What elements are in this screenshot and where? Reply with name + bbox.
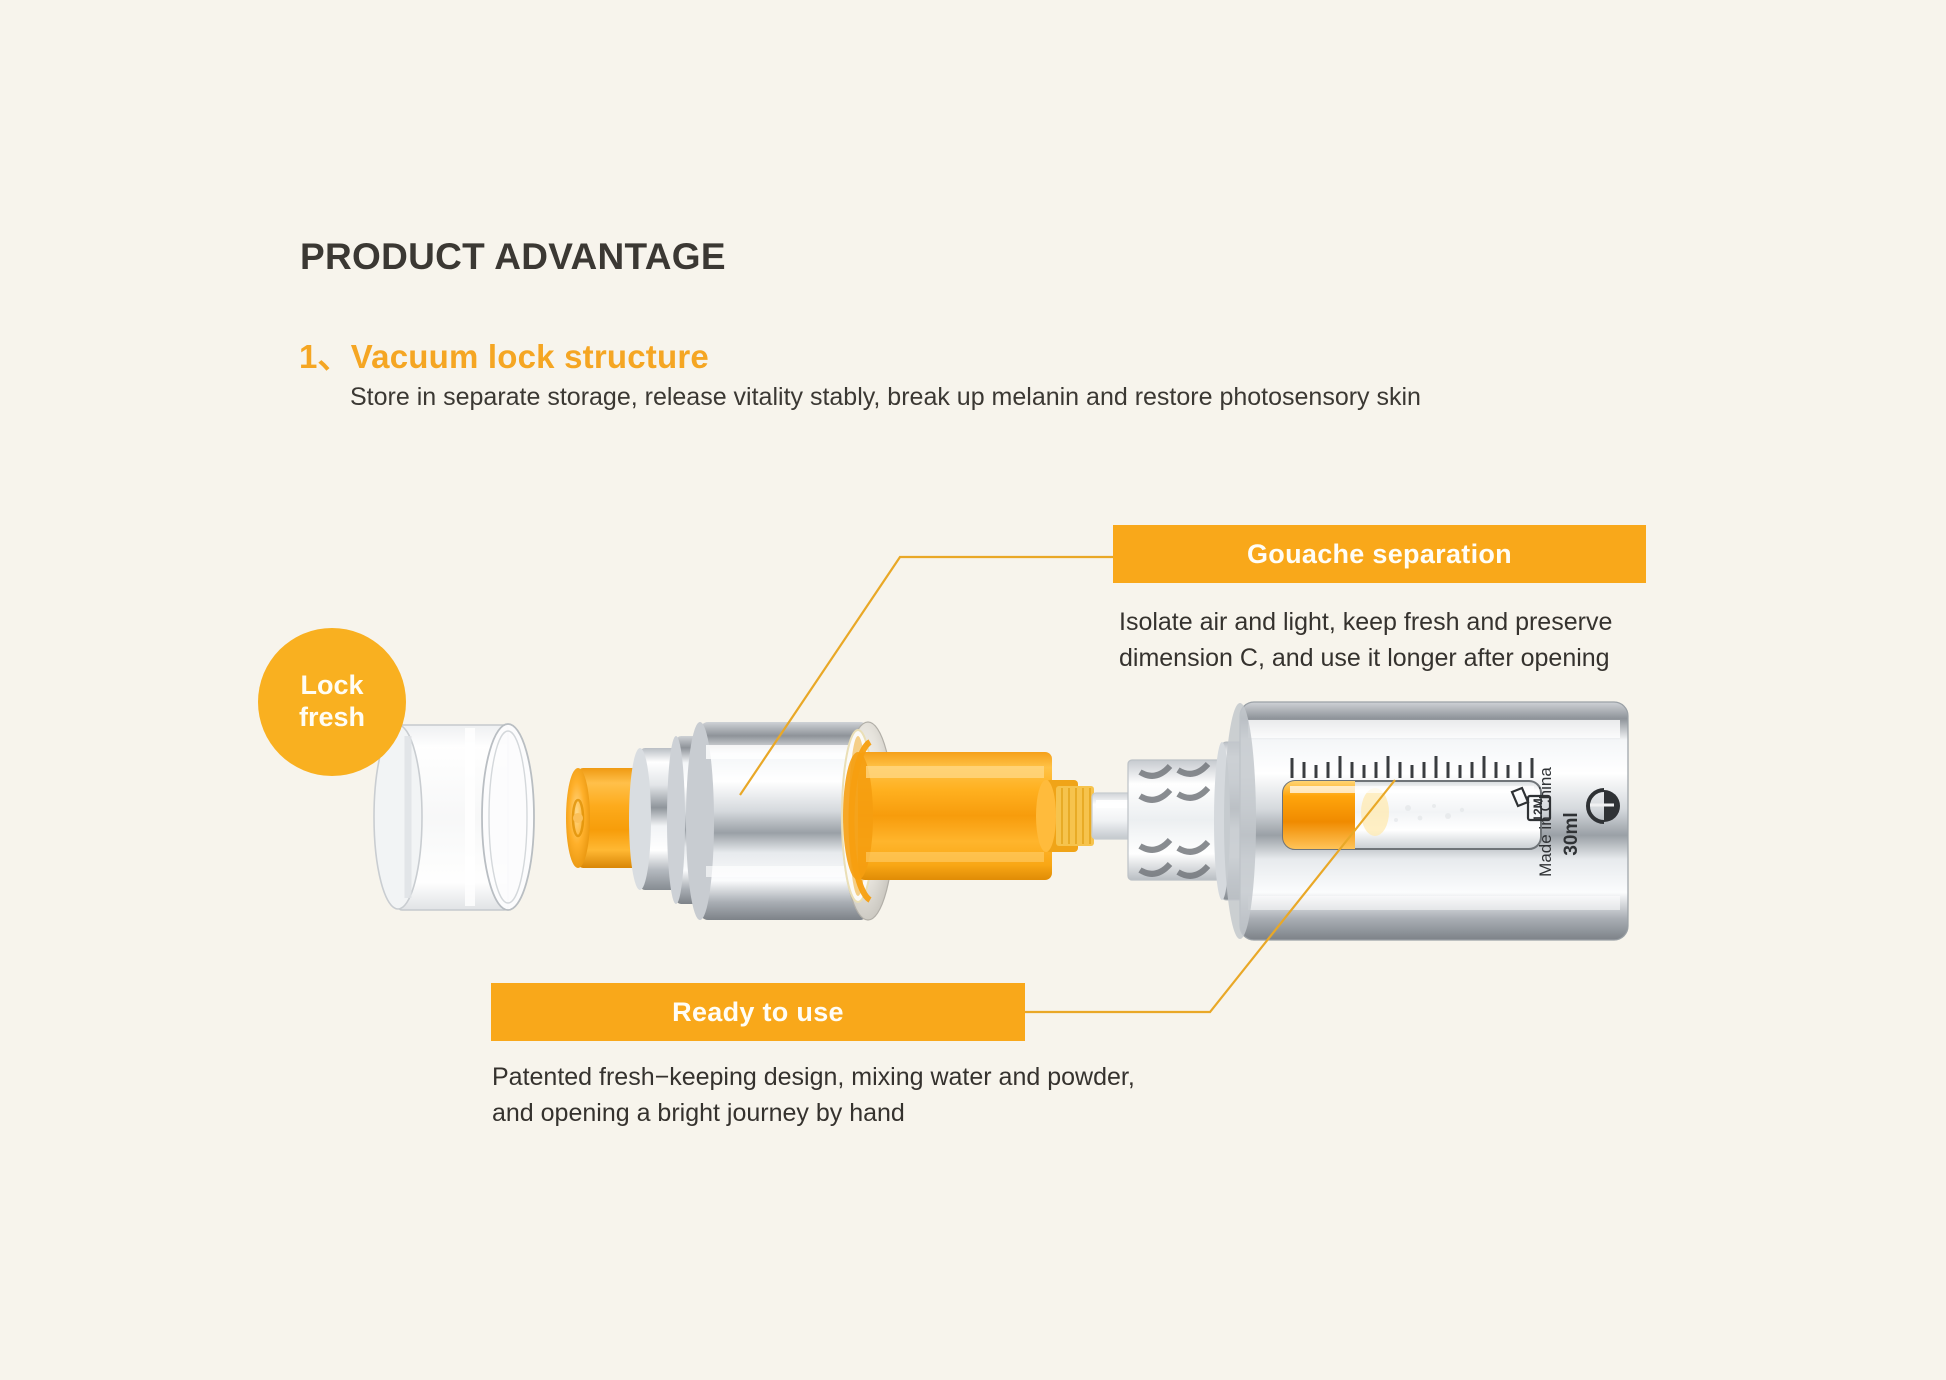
svg-text:12M: 12M	[1531, 798, 1545, 821]
liquid-level-window	[1283, 781, 1541, 849]
estimated-sign-icon	[1588, 790, 1620, 822]
page-root: PRODUCT ADVANTAGE 1、Vacuum lock structur…	[0, 0, 1946, 1380]
part-clear-overcap	[374, 724, 534, 910]
volume-text: 30ml	[1561, 812, 1582, 855]
part-bottle-body: Made in China 30ml 12M	[1128, 702, 1628, 940]
badge-lock-fresh: Lock fresh	[258, 628, 406, 776]
badge-line-1: Lock	[300, 670, 363, 702]
badge-line-2: fresh	[299, 702, 365, 734]
